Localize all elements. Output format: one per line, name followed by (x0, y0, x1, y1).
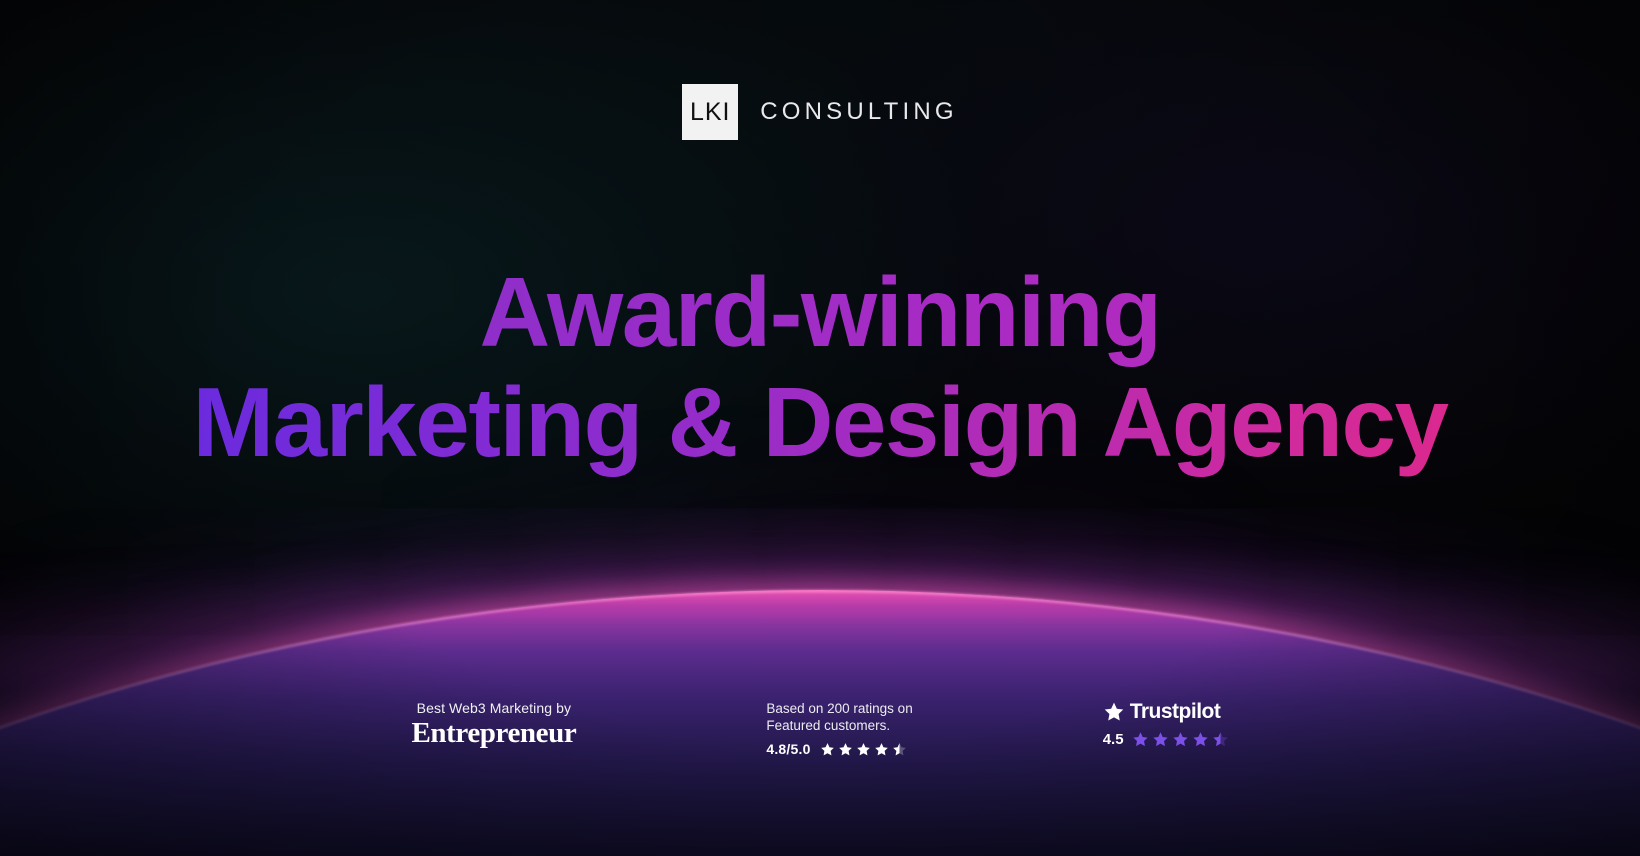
featured-customers-caption: Based on 200 ratings on Featured custome… (766, 700, 912, 734)
featured-caption-line-1: Based on 200 ratings on (766, 701, 912, 716)
badge-featured-customers: Based on 200 ratings on Featured custome… (766, 700, 912, 757)
featured-customers-stars (820, 742, 907, 757)
star-full-icon (1172, 731, 1189, 748)
trustpilot-rating-row: 4.5 (1103, 731, 1229, 748)
badge-trustpilot: Trustpilot 4.5 (1103, 700, 1229, 748)
trustpilot-star-icon (1103, 701, 1125, 723)
featured-customers-rating-row: 4.8/5.0 (766, 741, 906, 757)
star-full-icon (820, 742, 835, 757)
trustpilot-stars (1132, 731, 1229, 748)
page-title: Award-winning Marketing & Design Agency (0, 258, 1640, 478)
award-badges-row: Best Web3 Marketing by Entrepreneur Base… (0, 700, 1640, 757)
star-full-icon (856, 742, 871, 757)
logomark-text: LKI (690, 98, 731, 127)
star-full-icon (1132, 731, 1149, 748)
featured-caption-line-2: Featured customers. (766, 718, 890, 733)
headline-line-2: Marketing & Design Agency (0, 368, 1640, 478)
trustpilot-header: Trustpilot (1103, 700, 1221, 724)
star-full-icon (874, 742, 889, 757)
logo-wordmark: CONSULTING (760, 98, 958, 126)
badge-entrepreneur: Best Web3 Marketing by Entrepreneur (411, 700, 576, 748)
site-logo[interactable]: LKI CONSULTING (0, 84, 1640, 140)
star-full-icon (838, 742, 853, 757)
hero-section: LKI CONSULTING Award-winning Marketing &… (0, 0, 1640, 856)
star-half-icon (892, 742, 907, 757)
entrepreneur-caption: Best Web3 Marketing by (417, 700, 571, 716)
featured-customers-score: 4.8/5.0 (766, 741, 810, 757)
star-full-icon (1152, 731, 1169, 748)
star-full-icon (1192, 731, 1209, 748)
star-half-icon (1212, 731, 1229, 748)
trustpilot-name: Trustpilot (1130, 700, 1221, 724)
lki-logomark-icon: LKI (682, 84, 738, 140)
entrepreneur-wordmark: Entrepreneur (411, 719, 576, 748)
headline-line-1: Award-winning (0, 258, 1640, 368)
trustpilot-score: 4.5 (1103, 731, 1124, 748)
